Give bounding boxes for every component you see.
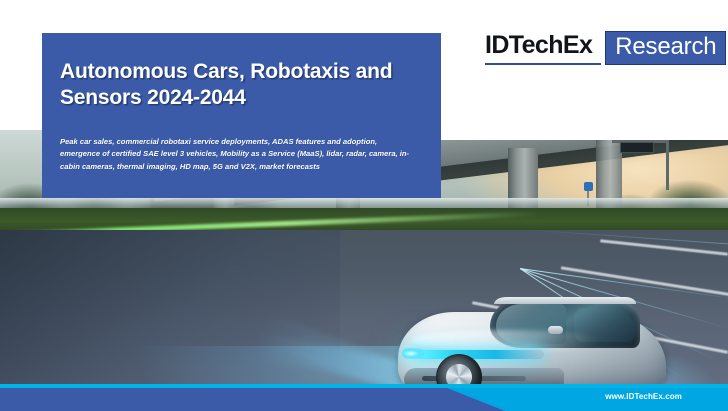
wheel-hub	[446, 364, 472, 384]
idtechex-logo[interactable]: IDTechEx Research	[485, 31, 726, 65]
car-headlight	[402, 348, 424, 359]
page-title: Autonomous Cars, Robotaxis and Sensors 2…	[60, 59, 417, 112]
logo-research-badge: Research	[605, 31, 726, 65]
car-hood-highlight	[412, 330, 602, 352]
title-panel: Autonomous Cars, Robotaxis and Sensors 2…	[42, 33, 441, 198]
page-subtitle: Peak car sales, commercial robotaxi serv…	[60, 136, 412, 173]
logo-wordmark: IDTechEx	[485, 31, 601, 65]
traffic-gantry-pole	[666, 138, 669, 190]
autonomous-car	[398, 296, 668, 384]
footer-top-strip	[0, 384, 728, 388]
footer-bar: www.IDTechEx.com	[0, 384, 728, 411]
car-roofline	[494, 297, 636, 304]
street-sign-icon	[584, 182, 593, 191]
traffic-sign-icon	[620, 142, 654, 153]
report-cover-page: Autonomous Cars, Robotaxis and Sensors 2…	[0, 0, 728, 411]
website-url-link[interactable]: www.IDTechEx.com	[605, 392, 682, 401]
car-led-lightbar	[416, 350, 544, 359]
